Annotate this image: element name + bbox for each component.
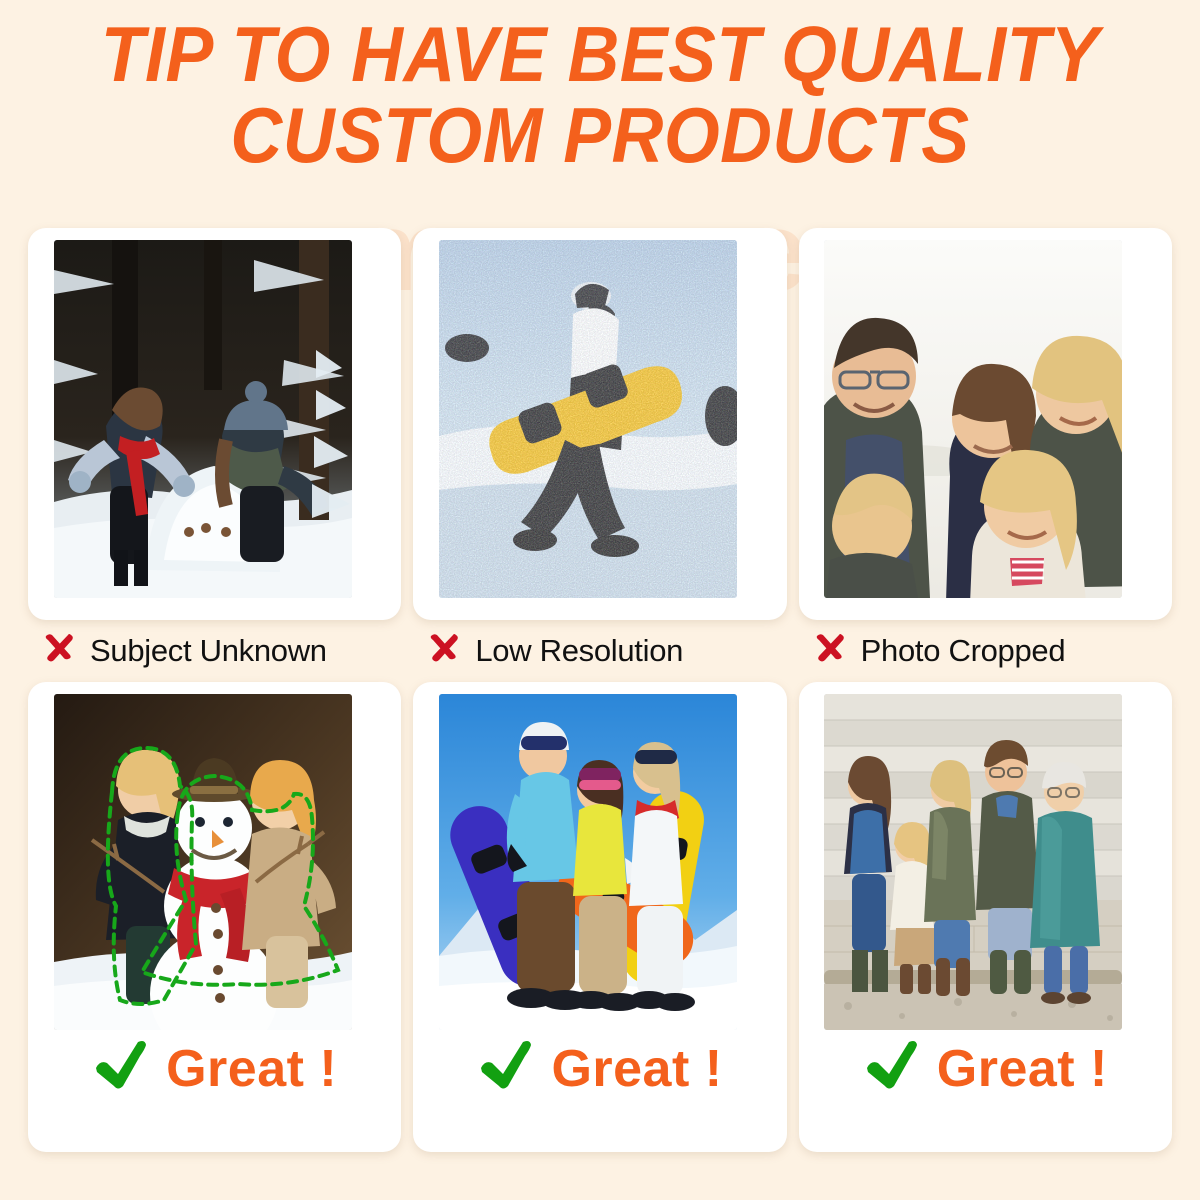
card-photo-frame [42, 682, 388, 1034]
green-check-icon [92, 1040, 150, 1097]
page-title-line-2: CUSTOM PRODUCTS [48, 95, 1152, 176]
great-label: Great ! [937, 1043, 1108, 1095]
green-check-icon [477, 1040, 535, 1097]
page-title-line-1: TIP TO HAVE BEST QUALITY [48, 14, 1152, 95]
great-label: Great ! [166, 1043, 337, 1095]
green-check-icon [863, 1040, 921, 1097]
bad-example-card-subject-unknown[interactable] [28, 228, 401, 620]
great-label: Great ! [551, 1043, 722, 1095]
photo-illustration [824, 694, 1122, 1030]
photo-illustration [439, 694, 737, 1030]
caption-photo-cropped: Photo Cropped [799, 620, 1172, 682]
caption-subject-unknown: Subject Unknown [28, 620, 401, 682]
photo-cropped [824, 240, 1122, 598]
page-title: TIP TO HAVE BEST QUALITY CUSTOM PRODUCTS [48, 14, 1152, 176]
examples-grid: Subject Unknown Low Resolution Photo Cro… [0, 228, 1200, 1188]
card-photo-frame [812, 682, 1158, 1034]
photo-snowman-outlined [54, 694, 352, 1030]
red-x-icon [813, 630, 847, 672]
bad-example-card-photo-cropped[interactable] [799, 228, 1172, 620]
red-x-icon [42, 630, 76, 672]
caption-low-resolution: Low Resolution [413, 620, 786, 682]
card-photo-frame [427, 228, 773, 610]
card-photo-frame [427, 682, 773, 1034]
caption-label: Low Resolution [475, 633, 683, 669]
photo-illustration [824, 240, 1122, 598]
good-example-card-snowboarders[interactable]: Great ! [413, 682, 786, 1152]
photo-subject-unknown [54, 240, 352, 598]
good-example-card-snowman[interactable]: Great ! [28, 682, 401, 1152]
photo-family-group [824, 694, 1122, 1030]
great-label-row: Great ! [799, 1040, 1172, 1097]
card-photo-frame [42, 228, 388, 610]
great-label-row: Great ! [413, 1040, 786, 1097]
caption-label: Photo Cropped [861, 633, 1066, 669]
good-example-card-family[interactable]: Great ! [799, 682, 1172, 1152]
photo-snowboarders [439, 694, 737, 1030]
card-photo-frame [812, 228, 1158, 610]
great-label-row: Great ! [28, 1040, 401, 1097]
photo-illustration [54, 240, 352, 598]
photo-illustration [439, 240, 737, 598]
photo-low-resolution [439, 240, 737, 598]
caption-label: Subject Unknown [90, 633, 327, 669]
bad-example-card-low-resolution[interactable] [413, 228, 786, 620]
red-x-icon [427, 630, 461, 672]
photo-illustration [54, 694, 352, 1030]
